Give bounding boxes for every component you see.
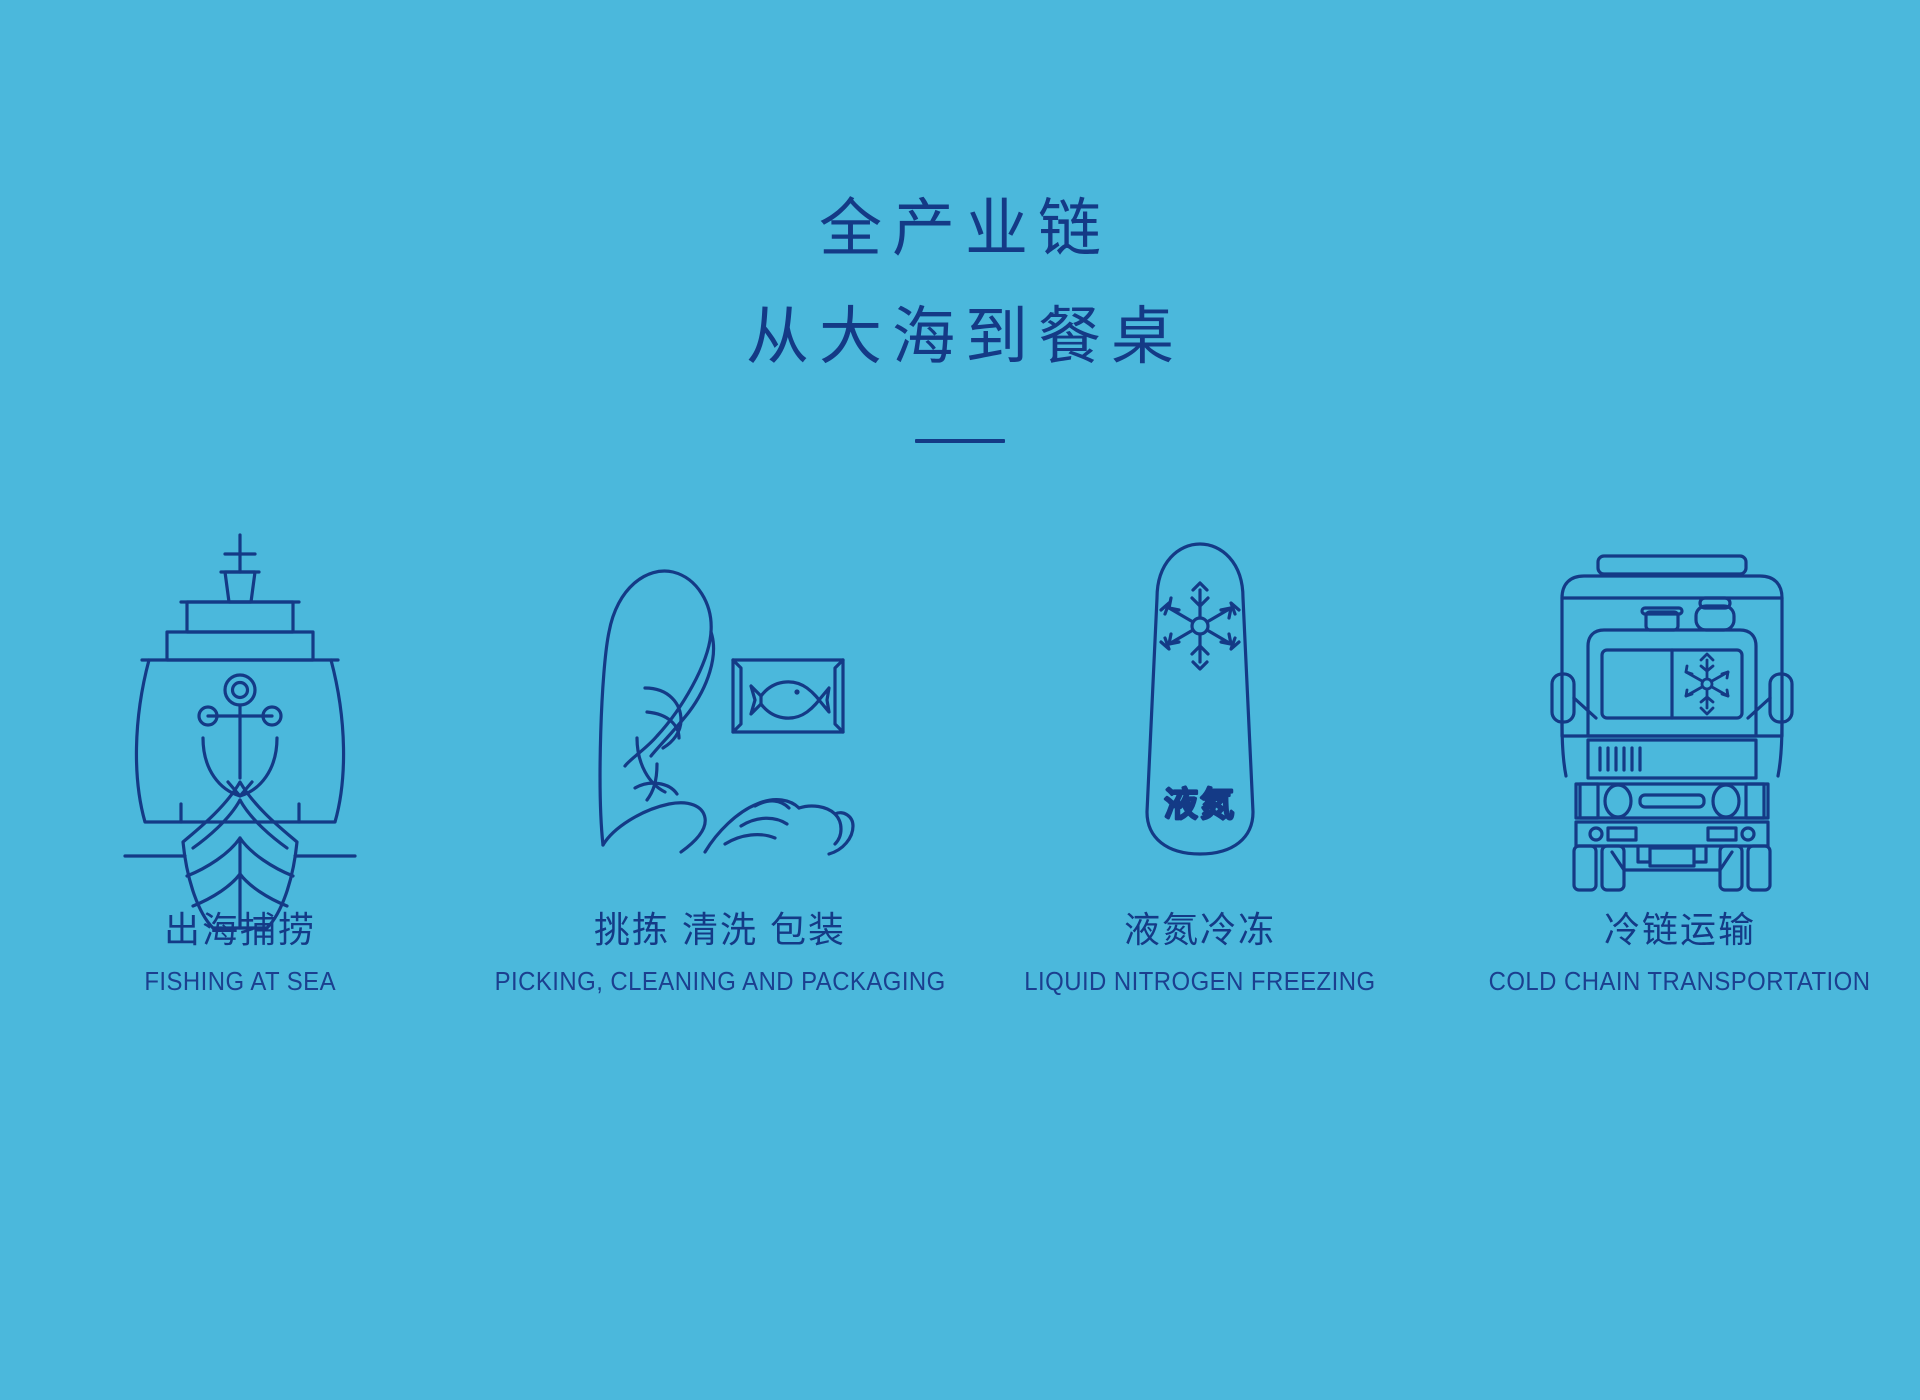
refrigerated-truck-icon [1550, 550, 1810, 860]
infographic-page: 全产业链 从大海到餐桌 [0, 0, 1920, 1400]
step-label-cn: 挑拣 清洗 包装 [475, 908, 965, 952]
hands-icon-box [585, 520, 855, 860]
step-picking-cleaning-packaging[interactable]: 挑拣 清洗 包装 PICKING, CLEANING AND PACKAGING [480, 520, 960, 998]
step-label-en: PICKING, CLEANING AND PACKAGING [494, 964, 945, 998]
process-steps: 出海捕捞 FISHING AT SEA [0, 520, 1920, 998]
liquid-nitrogen-icon-box: 液氮 [1135, 520, 1265, 860]
hands-with-packaged-fish-icon [585, 560, 855, 860]
cold-chain-labels: 冷链运输 COLD CHAIN TRANSPORTATION [1472, 908, 1887, 998]
picking-cleaning-packaging-labels: 挑拣 清洗 包装 PICKING, CLEANING AND PACKAGING [475, 908, 965, 998]
header: 全产业链 从大海到餐桌 [0, 175, 1920, 443]
page-title-line-1: 全产业链 [0, 175, 1920, 283]
liquid-nitrogen-labels: 液氮冷冻 LIQUID NITROGEN FREEZING [1009, 908, 1391, 998]
step-fishing-at-sea[interactable]: 出海捕捞 FISHING AT SEA [0, 520, 480, 998]
truck-icon-box [1550, 520, 1810, 860]
title-divider [915, 439, 1005, 443]
step-label-cn: 冷链运输 [1472, 908, 1887, 952]
step-label-cn: 液氮冷冻 [1009, 908, 1391, 952]
tank-label-text: 液氮 [1164, 786, 1236, 824]
fishing-boat-icon [125, 530, 355, 860]
page-title-line-2: 从大海到餐桌 [0, 283, 1920, 391]
step-liquid-nitrogen-freezing[interactable]: 液氮 液氮冷冻 LIQUID NITROGEN FREEZING [960, 520, 1440, 998]
fishing-at-sea-labels: 出海捕捞 FISHING AT SEA [136, 908, 344, 998]
step-cold-chain-transportation[interactable]: 冷链运输 COLD CHAIN TRANSPORTATION [1440, 520, 1920, 998]
snowflake-icon [1161, 583, 1239, 669]
step-label-cn: 出海捕捞 [136, 908, 344, 952]
fishing-boat-icon-box [125, 520, 355, 860]
liquid-nitrogen-tank-icon: 液氮 [1135, 540, 1265, 860]
snowflake-icon [1686, 654, 1728, 714]
step-label-en: COLD CHAIN TRANSPORTATION [1489, 964, 1871, 998]
step-label-en: LIQUID NITROGEN FREEZING [1024, 964, 1375, 998]
step-label-en: FISHING AT SEA [144, 964, 336, 998]
